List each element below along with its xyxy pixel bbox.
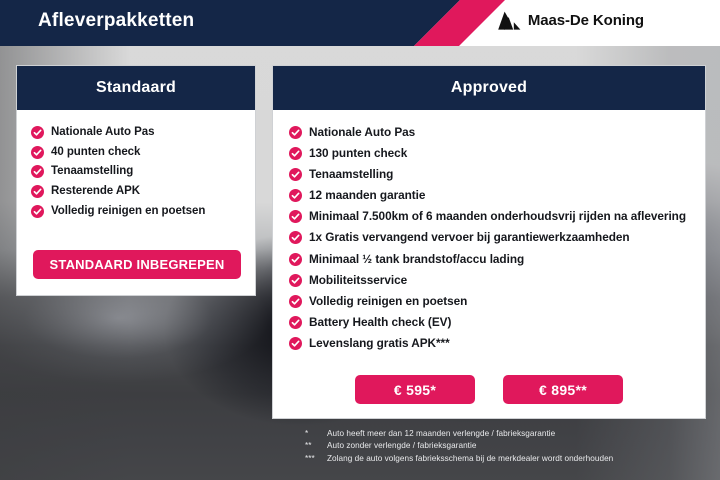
brand-name: Maas-De Koning [528,12,644,29]
feature-label: Levenslang gratis APK*** [309,335,450,352]
feature-list-standaard: Nationale Auto Pas 40 punten check Tenaa… [17,110,255,219]
check-circle-icon [289,231,302,244]
check-circle-icon [289,337,302,350]
list-item: Resterende APK [31,183,255,200]
list-item: 1x Gratis vervangend vervoer bij garanti… [289,229,705,246]
feature-label: Resterende APK [51,183,140,200]
footnote-marker: *** [305,453,327,465]
card-title-standaard: Standaard [96,79,176,97]
footnote-triple-asterisk: *** Zolang de auto volgens fabrieksschem… [305,453,705,465]
feature-label: 130 punten check [309,145,407,162]
page-title: Afleverpakketten [38,10,194,32]
list-item: Nationale Auto Pas [289,124,705,141]
footnote-marker: * [305,428,327,440]
check-circle-icon [289,253,302,266]
check-circle-icon [289,126,302,139]
list-item: Tenaamstelling [31,163,255,180]
feature-label: Mobiliteitsservice [309,272,407,289]
feature-label: Tenaamstelling [309,166,393,183]
footnote-text: Auto heeft meer dan 12 maanden verlengde… [327,428,705,440]
feature-label: 1x Gratis vervangend vervoer bij garanti… [309,229,630,246]
card-header-standaard: Standaard [17,66,255,110]
feature-label: Volledig reinigen en poetsen [309,293,467,310]
brand-logo: Maas-De Koning [495,11,644,30]
list-item: 40 punten check [31,144,255,161]
list-item: Minimaal 7.500km of 6 maanden onderhouds… [289,208,705,225]
list-item: Minimaal ½ tank brandstof/accu lading [289,251,705,268]
price-button-row: € 595* € 895** [273,375,705,404]
feature-label: Nationale Auto Pas [309,124,415,141]
check-circle-icon [289,274,302,287]
footnote-marker: ** [305,440,327,452]
list-item: 12 maanden garantie [289,187,705,204]
feature-label: 40 punten check [51,144,140,161]
check-circle-icon [31,185,44,198]
feature-label: Battery Health check (EV) [309,314,451,331]
feature-label: Nationale Auto Pas [51,124,154,141]
feature-label: 12 maanden garantie [309,187,425,204]
footnotes: * Auto heeft meer dan 12 maanden verleng… [305,428,705,465]
check-circle-icon [31,205,44,218]
footnote-text: Auto zonder verlengde / fabrieksgarantie [327,440,705,452]
check-circle-icon [31,165,44,178]
standaard-inbegrepen-button[interactable]: STANDAARD INBEGREPEN [33,250,241,279]
feature-list-approved: Nationale Auto Pas 130 punten check Tena… [273,110,705,352]
list-item: Tenaamstelling [289,166,705,183]
price-button-895[interactable]: € 895** [503,375,623,404]
footnote-single-asterisk: * Auto heeft meer dan 12 maanden verleng… [305,428,705,440]
feature-label: Tenaamstelling [51,163,133,180]
feature-label: Minimaal ½ tank brandstof/accu lading [309,251,524,268]
page-header: Afleverpakketten Maas-De Koning [0,0,720,46]
price-button-595[interactable]: € 595* [355,375,475,404]
footnote-text: Zolang de auto volgens fabrieksschema bi… [327,453,705,465]
card-header-approved: Approved [273,66,705,110]
list-item: Volledig reinigen en poetsen [289,293,705,310]
feature-label: Minimaal 7.500km of 6 maanden onderhouds… [309,208,686,225]
check-circle-icon [289,210,302,223]
list-item: Battery Health check (EV) [289,314,705,331]
check-circle-icon [31,146,44,159]
list-item: Mobiliteitsservice [289,272,705,289]
check-circle-icon [289,295,302,308]
check-circle-icon [289,168,302,181]
footnote-double-asterisk: ** Auto zonder verlengde / fabrieksgaran… [305,440,705,452]
check-circle-icon [289,147,302,160]
card-title-approved: Approved [451,79,527,97]
maas-de-koning-m-logo-icon [495,11,521,30]
feature-label: Volledig reinigen en poetsen [51,203,205,220]
list-item: Volledig reinigen en poetsen [31,203,255,220]
list-item: 130 punten check [289,145,705,162]
list-item: Levenslang gratis APK*** [289,335,705,352]
check-circle-icon [289,189,302,202]
package-card-standaard: Standaard Nationale Auto Pas 40 punten c… [16,65,256,296]
check-circle-icon [31,126,44,139]
list-item: Nationale Auto Pas [31,124,255,141]
package-card-approved: Approved Nationale Auto Pas 130 punten c… [272,65,706,419]
check-circle-icon [289,316,302,329]
